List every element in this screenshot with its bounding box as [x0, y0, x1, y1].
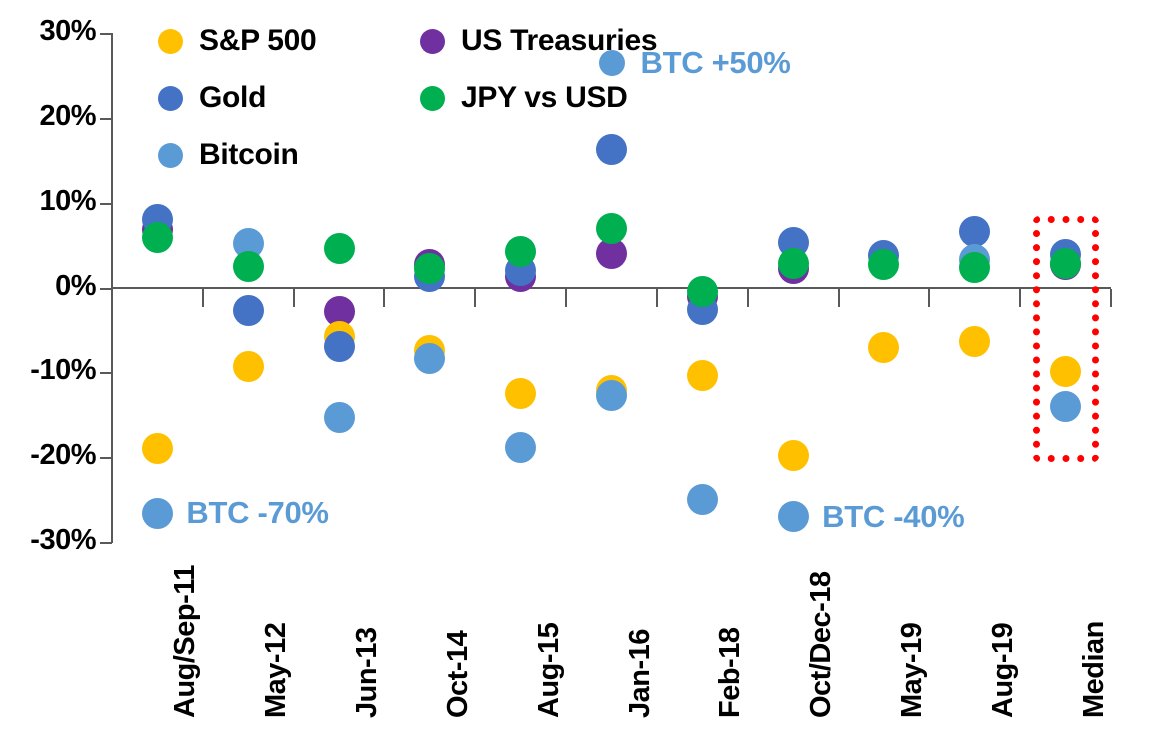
x-axis-tick-mark	[1019, 289, 1021, 307]
legend-item-label: JPY vs USD	[461, 81, 628, 115]
y-axis-tick-label: 10%	[0, 185, 96, 218]
data-point-marker	[324, 233, 355, 264]
y-axis-tick-label: 0%	[0, 270, 96, 303]
x-axis-tick-mark	[656, 289, 658, 307]
data-point-marker	[687, 484, 718, 515]
x-axis-category-label: May-19	[896, 623, 929, 718]
x-axis-tick-mark	[111, 289, 113, 307]
x-axis-tick-mark	[838, 289, 840, 307]
annotation-dot-icon	[599, 50, 625, 76]
legend-item[interactable]: JPY vs USD	[420, 81, 628, 115]
legend-swatch-dot-icon	[420, 86, 445, 111]
y-axis-tick-mark	[100, 33, 112, 35]
data-point-marker	[142, 222, 173, 253]
x-axis-category-label: Median	[1078, 621, 1111, 718]
annotation-label: BTC +50%	[641, 45, 791, 81]
x-axis-tick-mark	[565, 289, 567, 307]
x-axis-category-label: Aug-15	[533, 623, 566, 718]
y-axis-tick-label: -20%	[0, 439, 96, 472]
y-axis-tick-mark	[100, 118, 112, 120]
data-point-marker	[596, 134, 627, 165]
x-axis-category-label: Oct/Dec-18	[805, 571, 838, 718]
data-point-marker	[959, 326, 990, 357]
data-point-marker	[324, 331, 355, 362]
annotation-label: BTC -40%	[822, 499, 964, 535]
x-axis-category-label: Aug-19	[987, 623, 1020, 718]
data-point-marker	[596, 380, 627, 411]
y-axis-tick-label: 30%	[0, 15, 96, 48]
x-axis-category-label: Jan-16	[624, 629, 657, 718]
x-axis-tick-mark	[383, 289, 385, 307]
data-point-marker	[778, 248, 809, 279]
data-point-marker	[505, 236, 536, 267]
data-point-marker	[687, 360, 718, 391]
x-axis-category-label: May-12	[260, 623, 293, 718]
x-axis-tick-mark	[202, 289, 204, 307]
x-axis-category-label: Jun-13	[351, 628, 384, 718]
data-point-marker	[505, 432, 536, 463]
x-axis-category-label: Oct-14	[442, 631, 475, 718]
x-axis-tick-mark	[747, 289, 749, 307]
data-point-marker	[414, 343, 445, 374]
data-point-marker	[1050, 391, 1081, 422]
y-axis-tick-mark	[100, 457, 112, 459]
y-axis-tick-label: 20%	[0, 100, 96, 133]
legend-item[interactable]: Bitcoin	[158, 138, 299, 172]
annotation-label: BTC -70%	[186, 495, 328, 531]
legend-swatch-dot-icon	[158, 29, 183, 54]
legend-item-label: Bitcoin	[199, 138, 299, 172]
legend-item-label: S&P 500	[199, 24, 316, 58]
y-axis-tick-mark	[100, 542, 112, 544]
legend-swatch-dot-icon	[158, 143, 183, 168]
chart-annotation-btc-minus-40: BTC -40%	[780, 499, 964, 535]
x-axis-tick-mark	[474, 289, 476, 307]
y-axis-tick-mark	[100, 372, 112, 374]
legend-swatch-dot-icon	[158, 86, 183, 111]
x-axis-category-label: Feb-18	[714, 628, 747, 718]
data-point-marker	[324, 402, 355, 433]
x-axis-tick-mark	[293, 289, 295, 307]
legend-swatch-dot-icon	[420, 29, 445, 54]
x-axis-tick-mark	[928, 289, 930, 307]
x-axis-zero-line	[111, 287, 1111, 289]
y-axis-tick-label: -30%	[0, 524, 96, 557]
chart-annotation-btc-plus-50: BTC +50%	[599, 45, 791, 81]
legend-item[interactable]: Gold	[158, 81, 266, 115]
x-axis-tick-mark	[1110, 289, 1112, 307]
x-axis-category-label: Aug/Sep-11	[169, 565, 202, 718]
data-point-marker	[233, 351, 264, 382]
data-point-marker	[233, 251, 264, 282]
data-point-marker	[687, 276, 718, 307]
annotation-dot-icon	[144, 500, 170, 526]
data-point-marker	[596, 213, 627, 244]
data-point-marker	[868, 249, 899, 280]
data-point-marker	[778, 440, 809, 471]
y-axis-tick-mark	[100, 203, 112, 205]
data-point-marker	[233, 295, 264, 326]
scatter-chart: 30%20%10%0%-10%-20%-30% Aug/Sep-11May-12…	[0, 0, 1151, 739]
legend-item-label: Gold	[199, 81, 266, 115]
legend-item[interactable]: S&P 500	[158, 24, 316, 58]
data-point-marker	[1050, 356, 1081, 387]
data-point-marker	[505, 378, 536, 409]
y-axis-tick-label: -10%	[0, 354, 96, 387]
data-point-marker	[868, 332, 899, 363]
annotation-dot-icon	[780, 504, 806, 530]
data-point-marker	[959, 216, 990, 247]
data-point-marker	[142, 433, 173, 464]
data-point-marker	[959, 252, 990, 283]
chart-annotation-btc-minus-70: BTC -70%	[144, 495, 328, 531]
